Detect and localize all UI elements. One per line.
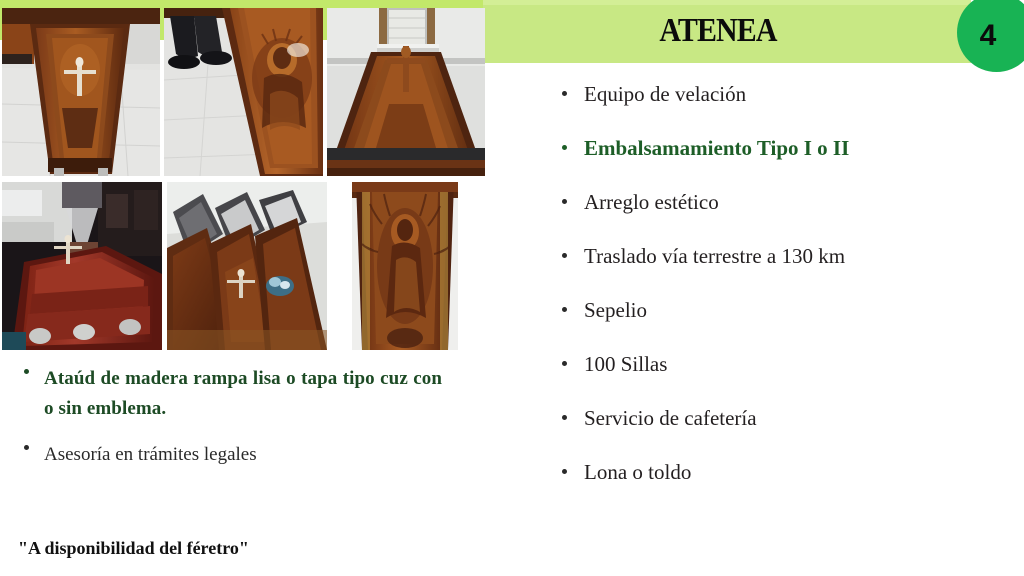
- bullet-marker: [24, 369, 29, 374]
- photo-3-graphic: [327, 8, 485, 176]
- page-number-label: 4: [957, 0, 1019, 72]
- photo-casket-showroom-red-mahogany: [2, 182, 162, 350]
- list-item: Embalsamamiento Tipo I o II: [556, 134, 1006, 188]
- photo-casket-carved-virgin-lid: [164, 8, 323, 176]
- list-item: 100 Sillas: [556, 350, 1006, 404]
- left-bullet-list: Ataúd de madera rampa lisa o tapa tipo c…: [18, 364, 438, 482]
- photo-caskets-row-open-lids: [167, 182, 327, 350]
- list-item: Asesoría en trámites legales: [18, 440, 438, 470]
- photo-6-graphic: [352, 182, 458, 350]
- list-item: Lona o toldo: [556, 458, 1006, 512]
- bullet-marker: [562, 415, 567, 420]
- right-bullet-list: Equipo de velación Embalsamamiento Tipo …: [556, 80, 1006, 512]
- photo-5-graphic: [167, 182, 327, 350]
- list-item-label: Embalsamamiento Tipo I o II: [584, 136, 849, 160]
- bullet-marker: [562, 361, 567, 366]
- page-title: ATENEA: [511, 8, 925, 56]
- page-number-badge: 4: [957, 0, 1024, 72]
- floral-arrangement: [266, 276, 294, 296]
- photo-4-graphic: [2, 182, 162, 350]
- photo-1-graphic: [2, 8, 160, 176]
- list-item-label: Lona o toldo: [584, 460, 691, 484]
- list-item: Servicio de cafetería: [556, 404, 1006, 458]
- bullet-marker: [562, 253, 567, 258]
- header-bar-highlight: [483, 0, 971, 5]
- list-item: Sepelio: [556, 296, 1006, 350]
- bullet-marker: [562, 91, 567, 96]
- footer-quote: "A disponibilidad del féretro": [18, 538, 249, 559]
- list-item: Arreglo estético: [556, 188, 1006, 242]
- list-item: Traslado vía terrestre a 130 km: [556, 242, 1006, 296]
- bullet-marker: [562, 145, 567, 150]
- bullet-marker: [24, 445, 29, 450]
- photo-grid: [0, 0, 490, 352]
- list-item-label: Sepelio: [584, 298, 647, 322]
- list-item-label: 100 Sillas: [584, 352, 667, 376]
- list-item-label: Servicio de cafetería: [584, 406, 757, 430]
- bullet-marker: [562, 199, 567, 204]
- photo-casket-open-crucifix-front: [2, 8, 160, 176]
- list-item-label: Asesoría en trámites legales: [44, 440, 438, 470]
- bullet-marker: [562, 469, 567, 474]
- photo-casket-foot-end-crucifix: [327, 8, 485, 176]
- list-item: Ataúd de madera rampa lisa o tapa tipo c…: [18, 364, 438, 424]
- list-item-label: Arreglo estético: [584, 190, 719, 214]
- slide: ATENEA 4: [0, 0, 1024, 576]
- list-item: Equipo de velación: [556, 80, 1006, 134]
- list-item-label: Ataúd de madera rampa lisa o tapa tipo c…: [44, 364, 442, 424]
- photo-casket-carved-guadalupe-panel: [352, 182, 458, 350]
- list-item-label: Traslado vía terrestre a 130 km: [584, 244, 845, 268]
- list-item-label: Equipo de velación: [584, 82, 746, 106]
- photo-2-graphic: [164, 8, 323, 176]
- bullet-marker: [562, 307, 567, 312]
